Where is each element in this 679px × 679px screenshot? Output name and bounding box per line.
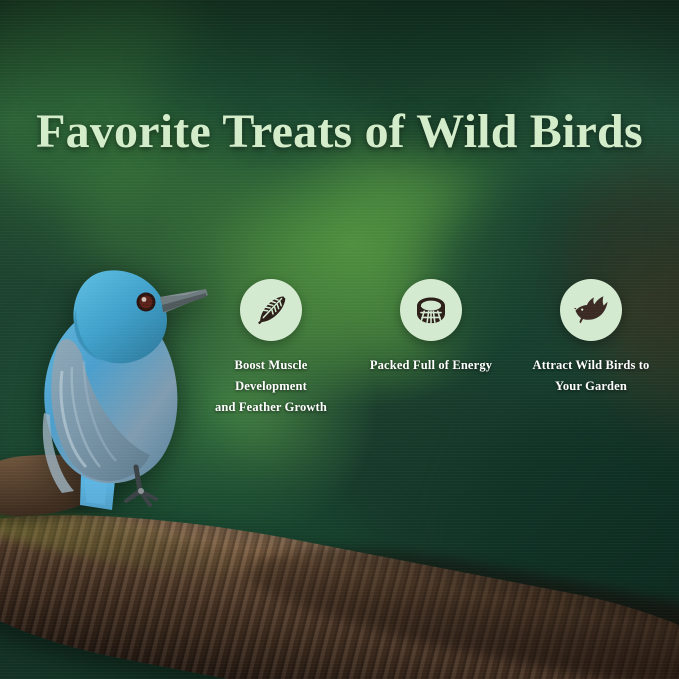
suet-ball-net-icon <box>414 293 448 327</box>
suet-ball-net-icon-badge <box>400 279 462 341</box>
feature-energy: Packed Full of Energy <box>356 279 506 376</box>
feature-label: Boost Muscle Development and Feather Gro… <box>215 355 327 418</box>
feature-muscle: Boost Muscle Development and Feather Gro… <box>196 279 346 418</box>
perched-blue-bird <box>10 205 225 515</box>
feature-list: Boost Muscle Development and Feather Gro… <box>196 279 666 418</box>
feature-label: Packed Full of Energy <box>370 355 492 376</box>
feature-label: Attract Wild Birds to Your Garden <box>533 355 650 397</box>
infographic-canvas: Favorite Treats of Wild Birds <box>0 0 679 679</box>
page-title: Favorite Treats of Wild Birds <box>0 104 679 159</box>
feature-attract: Attract Wild Birds to Your Garden <box>516 279 666 397</box>
flying-bird-icon <box>573 293 609 327</box>
flying-bird-icon-badge <box>560 279 622 341</box>
feather-icon <box>254 293 288 327</box>
feather-icon-badge <box>240 279 302 341</box>
